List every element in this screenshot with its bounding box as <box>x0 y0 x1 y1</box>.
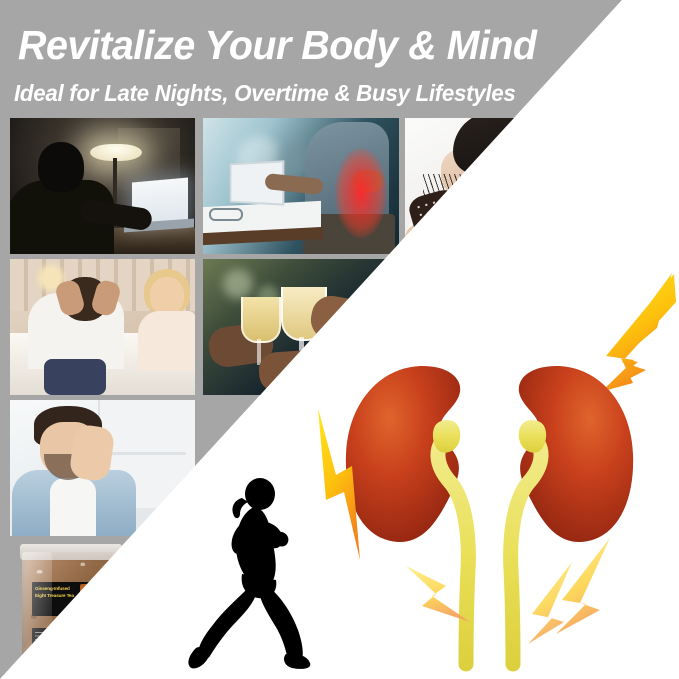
pain-highlight <box>335 148 387 238</box>
renal-pelvis-right <box>519 420 546 453</box>
runner-silhouette-icon <box>178 470 328 670</box>
page-subtitle: Ideal for Late Nights, Overtime & Busy L… <box>14 80 516 107</box>
product-ad-poster: Ginseng-Infused Eight Treasure Tea <box>0 0 679 679</box>
kidney-illustration <box>300 270 679 679</box>
header-banner: Revitalize Your Body & Mind Ideal for La… <box>0 0 679 112</box>
lightning-bolt-icon <box>599 274 676 394</box>
lightning-bolt-icon <box>528 562 572 644</box>
lightning-bolt-icon <box>556 538 610 634</box>
photo-late-night-laptop <box>10 118 195 254</box>
photo-couple-bedroom <box>10 259 195 395</box>
renal-pelvis-left <box>433 420 460 453</box>
photo-back-pain-desk <box>203 118 399 254</box>
page-title: Revitalize Your Body & Mind <box>18 22 536 69</box>
